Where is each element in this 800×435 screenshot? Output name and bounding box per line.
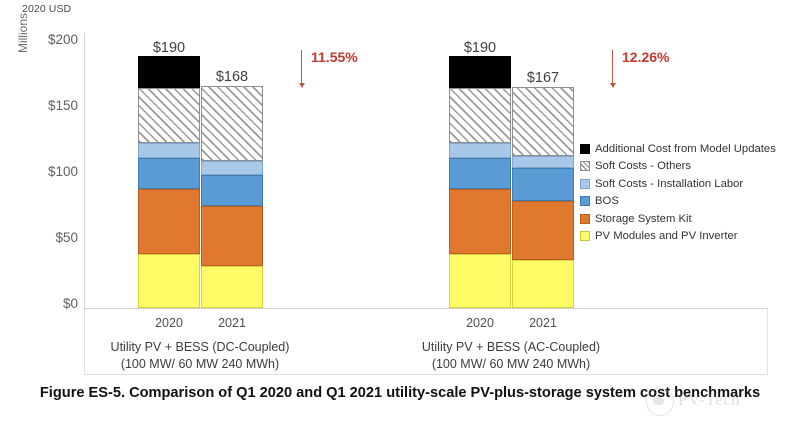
legend-item-pv-modules-inverter[interactable]: PV Modules and PV Inverter (580, 228, 796, 246)
arrow-down-icon (610, 83, 616, 88)
segment-pv-modules-inverter[interactable] (449, 254, 511, 308)
legend-item-model-updates[interactable]: Additional Cost from Model Updates (580, 140, 796, 158)
legend-label: Storage System Kit (595, 213, 692, 225)
segment-soft-costs-others[interactable] (512, 87, 574, 156)
chart-figure: 2020 USD Millions $200 $150 $100 $50 $0 … (0, 0, 800, 435)
segment-storage-system-kit[interactable] (138, 189, 200, 254)
legend-item-soft-costs-others[interactable]: Soft Costs - Others (580, 158, 796, 176)
segment-bos[interactable] (512, 168, 574, 201)
bar-total-dc-2020: $190 (109, 40, 229, 56)
segment-soft-costs-labor[interactable] (449, 143, 511, 158)
bar-total-dc-2021: $168 (172, 69, 292, 85)
black-swatch-icon (580, 144, 590, 154)
segment-storage-system-kit[interactable] (201, 206, 263, 266)
y-tick-100: $100 (4, 164, 78, 179)
group-name-ac: Utility PV + BESS (AC-Coupled) (422, 340, 600, 354)
segment-bos[interactable] (201, 175, 263, 206)
legend-label: BOS (595, 195, 619, 207)
hatch-swatch-icon (580, 161, 590, 171)
yellow-swatch-icon (580, 231, 590, 241)
segment-pv-modules-inverter[interactable] (201, 266, 263, 308)
arrow-down-icon (299, 83, 305, 88)
segment-bos[interactable] (449, 158, 511, 189)
segment-soft-costs-others[interactable] (449, 88, 511, 143)
segment-soft-costs-labor[interactable] (201, 161, 263, 175)
delta-line-icon (301, 50, 302, 84)
y-tick-0: $0 (4, 296, 78, 311)
x-label-dc-2021: 2021 (187, 316, 277, 330)
group-caption-dc: Utility PV + BESS (DC-Coupled) (100 MW/ … (40, 339, 360, 373)
figure-caption: Figure ES-5. Comparison of Q1 2020 and Q… (30, 383, 770, 404)
group-subtitle-dc: (100 MW/ 60 MW 240 MWh) (121, 357, 279, 371)
y-tick-150: $150 (4, 98, 78, 113)
light-blue-swatch-icon (580, 179, 590, 189)
delta-line-icon (612, 50, 613, 84)
legend-label: PV Modules and PV Inverter (595, 230, 738, 242)
segment-pv-modules-inverter[interactable] (138, 254, 200, 308)
y-tick-50: $50 (4, 230, 78, 245)
legend-item-soft-costs-labor[interactable]: Soft Costs - Installation Labor (580, 175, 796, 193)
segment-soft-costs-others[interactable] (201, 86, 263, 161)
segment-storage-system-kit[interactable] (512, 201, 574, 260)
y-tick-200: $200 (4, 32, 78, 47)
chart-legend: Additional Cost from Model Updates Soft … (580, 140, 796, 245)
legend-label: Additional Cost from Model Updates (595, 143, 776, 155)
delta-value-ac: 12.26% (622, 49, 669, 65)
group-caption-ac: Utility PV + BESS (AC-Coupled) (100 MW/ … (351, 339, 671, 373)
orange-swatch-icon (580, 214, 590, 224)
x-axis-label-area: 2020 2021 Utility PV + BESS (DC-Coupled)… (84, 309, 768, 375)
legend-item-storage-system-kit[interactable]: Storage System Kit (580, 210, 796, 228)
segment-bos[interactable] (138, 158, 200, 189)
segment-soft-costs-labor[interactable] (512, 156, 574, 168)
segment-soft-costs-others[interactable] (138, 88, 200, 143)
legend-item-bos[interactable]: BOS (580, 193, 796, 211)
segment-storage-system-kit[interactable] (449, 189, 511, 254)
delta-value-dc: 11.55% (311, 49, 358, 65)
group-subtitle-ac: (100 MW/ 60 MW 240 MWh) (432, 357, 590, 371)
group-name-dc: Utility PV + BESS (DC-Coupled) (111, 340, 290, 354)
blue-swatch-icon (580, 196, 590, 206)
legend-label: Soft Costs - Installation Labor (595, 178, 743, 190)
segment-soft-costs-labor[interactable] (138, 143, 200, 158)
legend-label: Soft Costs - Others (595, 160, 691, 172)
bar-total-ac-2020: $190 (420, 40, 540, 56)
bar-total-ac-2021: $167 (483, 70, 603, 86)
segment-pv-modules-inverter[interactable] (512, 260, 574, 308)
x-label-ac-2021: 2021 (498, 316, 588, 330)
